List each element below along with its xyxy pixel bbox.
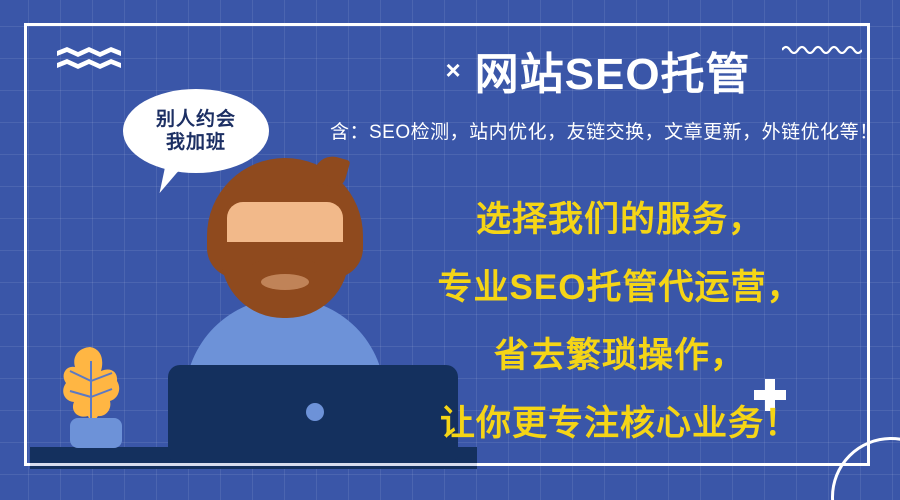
plant-pot	[70, 418, 122, 448]
seo-hosting-banner: 别人约会 我加班 × 网站SEO托管 含：SEO检测，站内优化，友链交换，文章更…	[0, 0, 900, 500]
pitch-block: 选择我们的服务， 专业SEO托管代运营， 省去繁琐操作， 让你更专注核心业务！	[400, 186, 840, 458]
pitch-line-4: 让你更专注核心业务！	[400, 390, 840, 458]
wavy-lines-icon	[57, 46, 121, 70]
page-title: × 网站SEO托管	[338, 44, 858, 96]
person-mouth	[261, 274, 309, 290]
pitch-line-1: 选择我们的服务，	[400, 186, 840, 254]
laptop-logo-dot	[306, 403, 324, 421]
bearded-man-icon	[185, 158, 385, 388]
speech-bubble: 别人约会 我加班	[123, 89, 269, 173]
pitch-line-3: 省去繁琐操作，	[400, 322, 840, 390]
desk-edge	[30, 463, 477, 466]
title-bullet-icon: ×	[445, 57, 460, 83]
speech-bubble-line-2: 我加班	[166, 131, 226, 154]
speech-bubble-line-1: 别人约会	[156, 108, 236, 131]
potted-plant-icon	[56, 345, 126, 455]
subtitle: 含：SEO检测，站内优化，友链交换，文章更新，外链优化等！	[330, 116, 890, 144]
pitch-line-2: 专业SEO托管代运营，	[400, 254, 840, 322]
title-text: 网站SEO托管	[475, 38, 751, 102]
